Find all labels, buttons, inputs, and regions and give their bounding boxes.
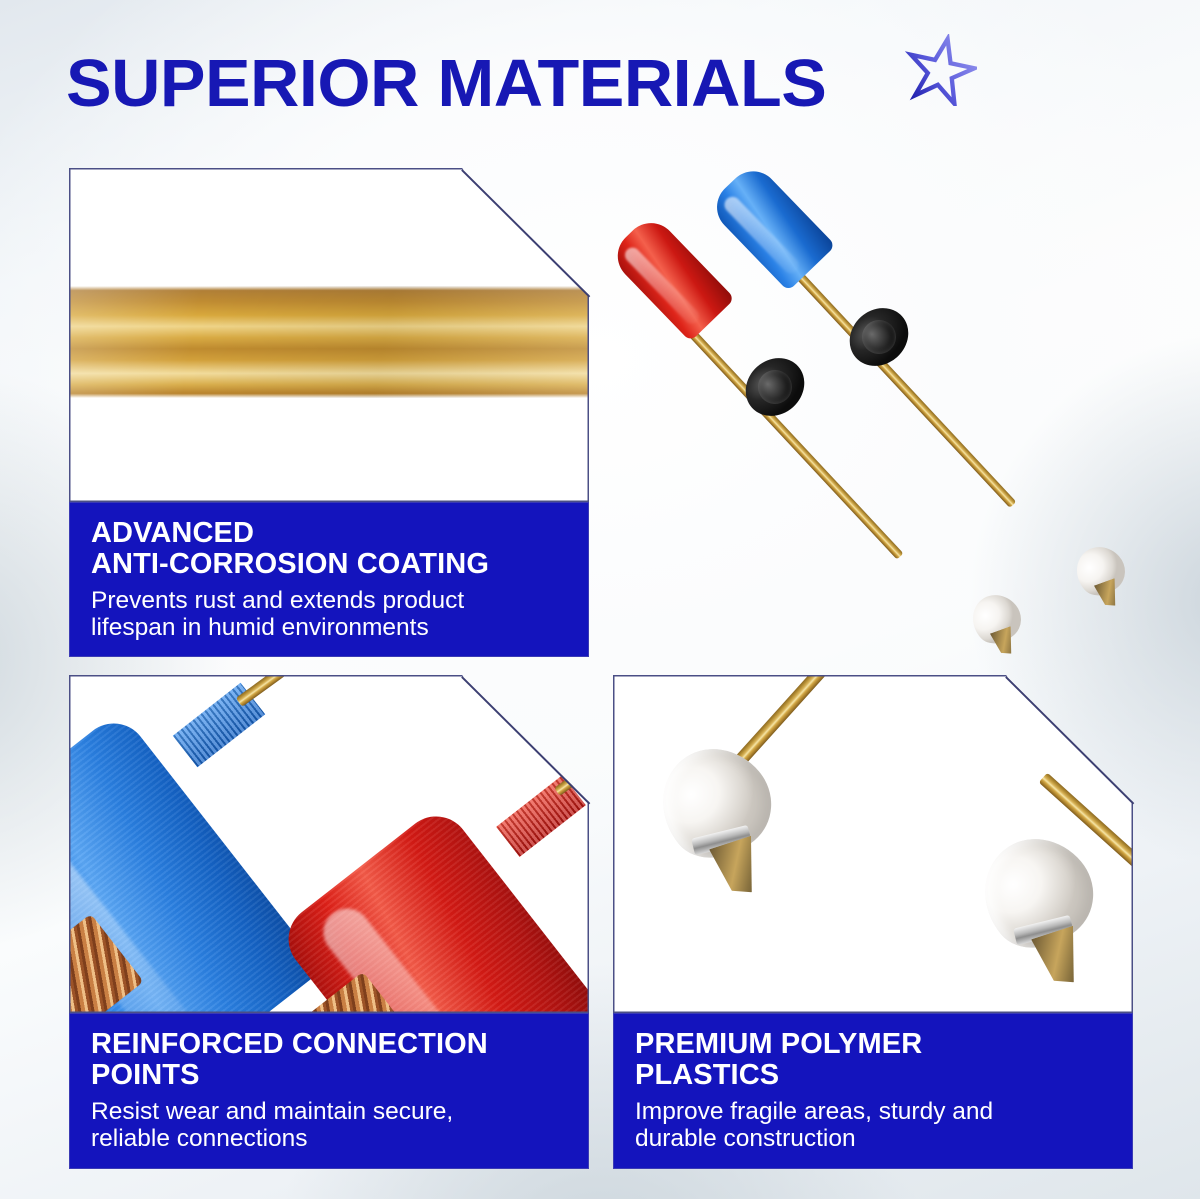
card-2-photo [69,675,589,1013]
card-3-caption-bar: PREMIUM POLYMER PLASTICS Improve fragile… [613,1013,1133,1169]
page-title-text: SUPERIOR MATERIALS [66,50,826,117]
red-probe-tip [962,585,1030,653]
hero-product-image [620,175,1180,665]
card-2-heading: REINFORCED CONNECTION POINTS [91,1029,567,1092]
card-2-body: Resist wear and maintain secure, reliabl… [91,1098,567,1153]
blue-probe-cap [706,161,835,292]
card-premium-polymer-plastics: PREMIUM POLYMER PLASTICS Improve fragile… [613,675,1133,1169]
infographic-page: SUPERIOR MATERIALS ADVANCED ANTI-CORROSI… [0,0,1200,1199]
card-1-photo [69,168,589,502]
red-probe-grommet [734,346,816,428]
page-title: SUPERIOR MATERIALS [66,50,811,117]
star-outline-icon [905,34,977,106]
blue-probe-grommet [838,296,920,378]
card-reinforced-connection-points: REINFORCED CONNECTION POINTS Resist wear… [69,675,589,1169]
red-cap-neck [496,775,586,857]
blue-probe-tip [1066,537,1134,605]
polymer-tip-left [639,727,791,879]
card-3-heading: PREMIUM POLYMER PLASTICS [635,1029,1111,1092]
red-probe-cap [607,212,735,341]
brass-rod-closeup-image [69,286,589,398]
card-3-photo [613,675,1133,1013]
card-1-heading: ADVANCED ANTI-CORROSION COATING [91,518,567,581]
card-advanced-anti-corrosion-coating: ADVANCED ANTI-CORROSION COATING Prevents… [69,168,589,657]
card-1-caption-bar: ADVANCED ANTI-CORROSION COATING Prevents… [69,502,589,657]
card-2-caption-bar: REINFORCED CONNECTION POINTS Resist wear… [69,1013,589,1169]
card-1-body: Prevents rust and extends product lifesp… [91,587,567,642]
card-3-body: Improve fragile areas, sturdy and durabl… [635,1098,1111,1153]
polymer-tip-right [961,817,1113,969]
